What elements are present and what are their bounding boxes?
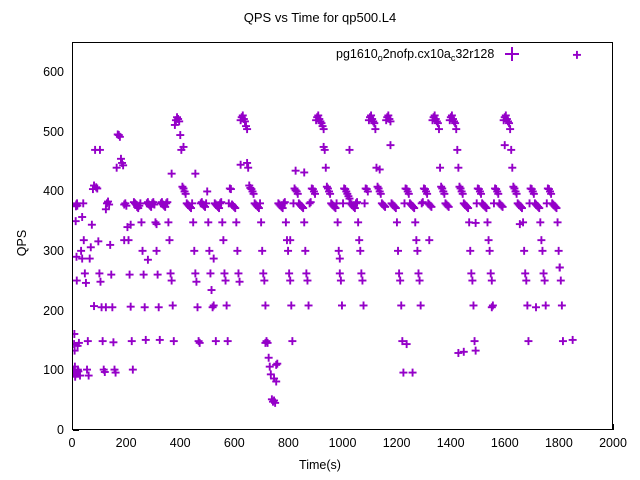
scatter-point	[573, 51, 581, 59]
scatter-point	[555, 247, 563, 255]
scatter-point	[305, 302, 313, 310]
scatter-point	[409, 369, 417, 377]
scatter-point	[399, 369, 407, 377]
scatter-point	[261, 302, 269, 310]
x-axis-tick-label: 0	[69, 436, 76, 450]
scatter-point	[335, 247, 343, 255]
scatter-point	[97, 278, 105, 286]
scatter-point	[322, 164, 330, 172]
scatter-point	[127, 303, 135, 311]
scatter-point	[153, 247, 161, 255]
scatter-point	[302, 269, 310, 277]
plot-area	[72, 42, 613, 430]
scatter-point	[460, 348, 468, 356]
scatter-point	[96, 146, 104, 154]
scatter-point	[556, 263, 564, 271]
scatter-point	[210, 255, 218, 263]
scatter-point	[120, 236, 128, 244]
scatter-point	[243, 159, 251, 167]
scatter-point	[234, 269, 242, 277]
scatter-point	[78, 213, 86, 221]
scatter-point	[393, 218, 401, 226]
scatter-point	[73, 330, 78, 338]
chart-title: QPS vs Time for qp500.L4	[0, 10, 640, 25]
scatter-point	[126, 271, 134, 279]
scatter-point	[84, 337, 92, 345]
scatter-point	[558, 302, 566, 310]
x-axis-tick-label: 1800	[545, 436, 573, 450]
scatter-point	[284, 247, 292, 255]
scatter-point	[285, 269, 293, 277]
scatter-point	[536, 218, 544, 226]
scatter-point	[220, 269, 228, 277]
legend-marker-plus-icon	[504, 46, 520, 62]
scatter-point	[488, 277, 496, 285]
y-axis-tick-label: 200	[14, 304, 64, 318]
scatter-point	[168, 170, 176, 178]
scatter-point	[203, 187, 211, 195]
scatter-point	[453, 146, 461, 154]
scatter-point	[142, 336, 150, 344]
x-axis-title: Time(s)	[0, 458, 640, 472]
x-axis-tick-label: 1200	[383, 436, 411, 450]
scatter-point	[520, 247, 528, 255]
x-axis-tick-label: 1000	[329, 436, 357, 450]
scatter-point	[307, 198, 315, 206]
y-axis-tick-label: 600	[14, 65, 64, 79]
scatter-point	[336, 269, 344, 277]
scatter-point	[411, 218, 419, 226]
scatter-point	[156, 336, 164, 344]
scatter-point	[412, 236, 420, 244]
scatter-point	[90, 302, 98, 310]
legend: pg1610o2nofp.cx10ac32r128	[336, 46, 520, 62]
scatter-point	[488, 303, 496, 311]
scatter-point	[140, 271, 148, 279]
scatter-point	[236, 278, 244, 286]
scatter-point	[223, 302, 231, 310]
y-axis-tick-label: 300	[14, 244, 64, 258]
scatter-point	[338, 302, 346, 310]
scatter-point	[508, 164, 516, 172]
scatter-point	[415, 269, 423, 277]
scatter-point	[507, 146, 515, 154]
scatter-point	[129, 366, 137, 374]
scatter-point	[102, 303, 110, 311]
scatter-point	[569, 336, 577, 344]
scatter-point	[164, 218, 172, 226]
scatter-point	[77, 247, 85, 255]
scatter-point	[218, 218, 226, 226]
scatter-point	[336, 255, 344, 263]
scatter-point	[303, 277, 311, 285]
scatter-point	[471, 337, 479, 345]
scatter-point	[244, 164, 252, 172]
scatter-point	[425, 236, 433, 244]
scatter-point	[190, 247, 198, 255]
scatter-point	[523, 302, 531, 310]
scatter-point	[559, 337, 567, 345]
scatter-point	[263, 337, 271, 345]
x-axis-tick-label: 800	[278, 436, 299, 450]
scatter-point	[266, 363, 274, 371]
scatter-points-layer	[73, 43, 612, 429]
scatter-point	[466, 247, 474, 255]
scatter-point	[521, 269, 529, 277]
scatter-point	[191, 170, 199, 178]
scatter-point	[94, 237, 102, 245]
scatter-point	[286, 277, 294, 285]
scatter-point	[99, 337, 107, 345]
scatter-point	[358, 277, 366, 285]
scatter-point	[260, 277, 268, 285]
scatter-point	[454, 349, 462, 357]
scatter-point	[454, 164, 462, 172]
scatter-point	[128, 337, 136, 345]
scatter-point	[396, 277, 404, 285]
scatter-point	[265, 354, 273, 362]
scatter-point	[484, 218, 492, 226]
scatter-point	[355, 236, 363, 244]
scatter-point	[155, 303, 163, 311]
scatter-point	[212, 337, 220, 345]
scatter-point	[354, 218, 362, 226]
scatter-point	[522, 277, 530, 285]
scatter-point	[346, 146, 354, 154]
scatter-point	[189, 218, 197, 226]
scatter-point	[501, 141, 509, 149]
scatter-point	[137, 218, 145, 226]
legend-series-label: pg1610o2nofp.cx10ac32r128	[336, 47, 494, 61]
scatter-point	[196, 339, 204, 347]
scatter-point	[195, 337, 203, 345]
scatter-point	[209, 303, 217, 311]
scatter-point	[301, 247, 309, 255]
x-axis-tick-label: 1400	[437, 436, 465, 450]
scatter-point	[542, 302, 550, 310]
scatter-point	[87, 243, 95, 251]
scatter-point	[107, 271, 115, 279]
scatter-point	[168, 277, 176, 285]
scatter-point	[176, 131, 184, 139]
scatter-point	[288, 337, 296, 345]
y-axis-tick-label: 0	[14, 423, 64, 437]
scatter-point	[73, 277, 81, 285]
scatter-point	[153, 220, 161, 228]
scatter-point	[554, 218, 562, 226]
scatter-point	[337, 277, 345, 285]
scatter-point	[194, 303, 202, 311]
scatter-point	[88, 221, 96, 229]
y-axis-tick-label: 400	[14, 184, 64, 198]
scatter-point	[506, 125, 514, 133]
scatter-point	[487, 269, 495, 277]
scatter-point	[222, 277, 230, 285]
scatter-point	[282, 218, 290, 226]
scatter-point	[452, 125, 460, 133]
scatter-point	[394, 247, 402, 255]
scatter-point	[80, 236, 88, 244]
scatter-point	[208, 286, 216, 294]
scatter-point	[167, 269, 175, 277]
scatter-point	[210, 302, 218, 310]
scatter-point	[151, 218, 159, 226]
scatter-point	[334, 218, 342, 226]
scatter-point	[300, 168, 308, 176]
scatter-point	[538, 247, 546, 255]
scatter-point	[78, 255, 86, 263]
scatter-point	[115, 131, 123, 139]
x-axis-tick-label: 600	[224, 436, 245, 450]
scatter-point	[219, 236, 227, 244]
scatter-point	[85, 372, 93, 380]
scatter-point	[489, 302, 497, 310]
scatter-point	[73, 217, 80, 225]
scatter-point	[472, 347, 480, 355]
scatter-point	[154, 271, 162, 279]
scatter-point	[106, 241, 114, 249]
scatter-point	[417, 302, 425, 310]
y-axis-tick-label: 500	[14, 125, 64, 139]
x-axis-tick-label: 2000	[599, 436, 627, 450]
scatter-point	[191, 269, 199, 277]
scatter-point	[139, 247, 147, 255]
scatter-point	[224, 337, 232, 345]
scatter-point	[258, 247, 266, 255]
scatter-point	[204, 218, 212, 226]
scatter-point	[273, 360, 281, 368]
scatter-point	[227, 185, 235, 193]
scatter-point	[339, 199, 347, 207]
scatter-point	[170, 337, 178, 345]
scatter-point	[306, 199, 314, 207]
scatter-point	[109, 338, 117, 346]
scatter-point	[82, 279, 90, 287]
x-axis-tick-label: 200	[116, 436, 137, 450]
scatter-point	[532, 303, 540, 311]
scatter-point	[73, 253, 80, 261]
scatter-point	[360, 302, 368, 310]
scatter-point	[524, 337, 532, 345]
y-axis-tick-mark	[73, 430, 79, 431]
scatter-point	[371, 125, 379, 133]
scatter-point	[357, 269, 365, 277]
scatter-point	[257, 218, 265, 226]
scatter-point	[435, 125, 443, 133]
scatter-point	[541, 277, 549, 285]
chart-container: QPS vs Time for qp500.L4 QPS Time(s) 010…	[0, 0, 640, 480]
scatter-point	[259, 269, 267, 277]
scatter-point	[386, 141, 394, 149]
scatter-point	[206, 269, 214, 277]
x-axis-tick-label: 400	[170, 436, 191, 450]
scatter-point	[416, 277, 424, 285]
scatter-point	[237, 161, 245, 169]
scatter-point	[472, 219, 480, 227]
scatter-point	[233, 247, 241, 255]
scatter-point	[467, 269, 475, 277]
scatter-point	[469, 302, 477, 310]
scatter-point	[165, 236, 173, 244]
scatter-point	[468, 277, 476, 285]
scatter-point	[232, 218, 240, 226]
scatter-point	[192, 278, 200, 286]
scatter-point	[436, 164, 444, 172]
scatter-point	[557, 277, 565, 285]
scatter-point	[300, 218, 308, 226]
scatter-point	[95, 269, 103, 277]
scatter-point	[141, 303, 149, 311]
scatter-point	[272, 361, 280, 369]
scatter-point	[205, 247, 213, 255]
scatter-point	[395, 269, 403, 277]
scatter-point	[287, 302, 295, 310]
scatter-point	[292, 167, 300, 175]
scatter-point	[413, 247, 421, 255]
x-axis-tick-label: 1600	[491, 436, 519, 450]
scatter-point	[537, 236, 545, 244]
scatter-point	[397, 302, 405, 310]
scatter-point	[356, 247, 364, 255]
scatter-point	[485, 236, 493, 244]
scatter-point	[361, 199, 369, 207]
scatter-point	[169, 302, 177, 310]
scatter-point	[144, 256, 152, 264]
x-axis-tick-mark	[613, 424, 614, 430]
scatter-point	[486, 247, 494, 255]
scatter-point	[540, 269, 548, 277]
scatter-point	[86, 255, 94, 263]
scatter-point	[81, 269, 89, 277]
y-axis-tick-label: 100	[14, 363, 64, 377]
scatter-point	[83, 366, 91, 374]
